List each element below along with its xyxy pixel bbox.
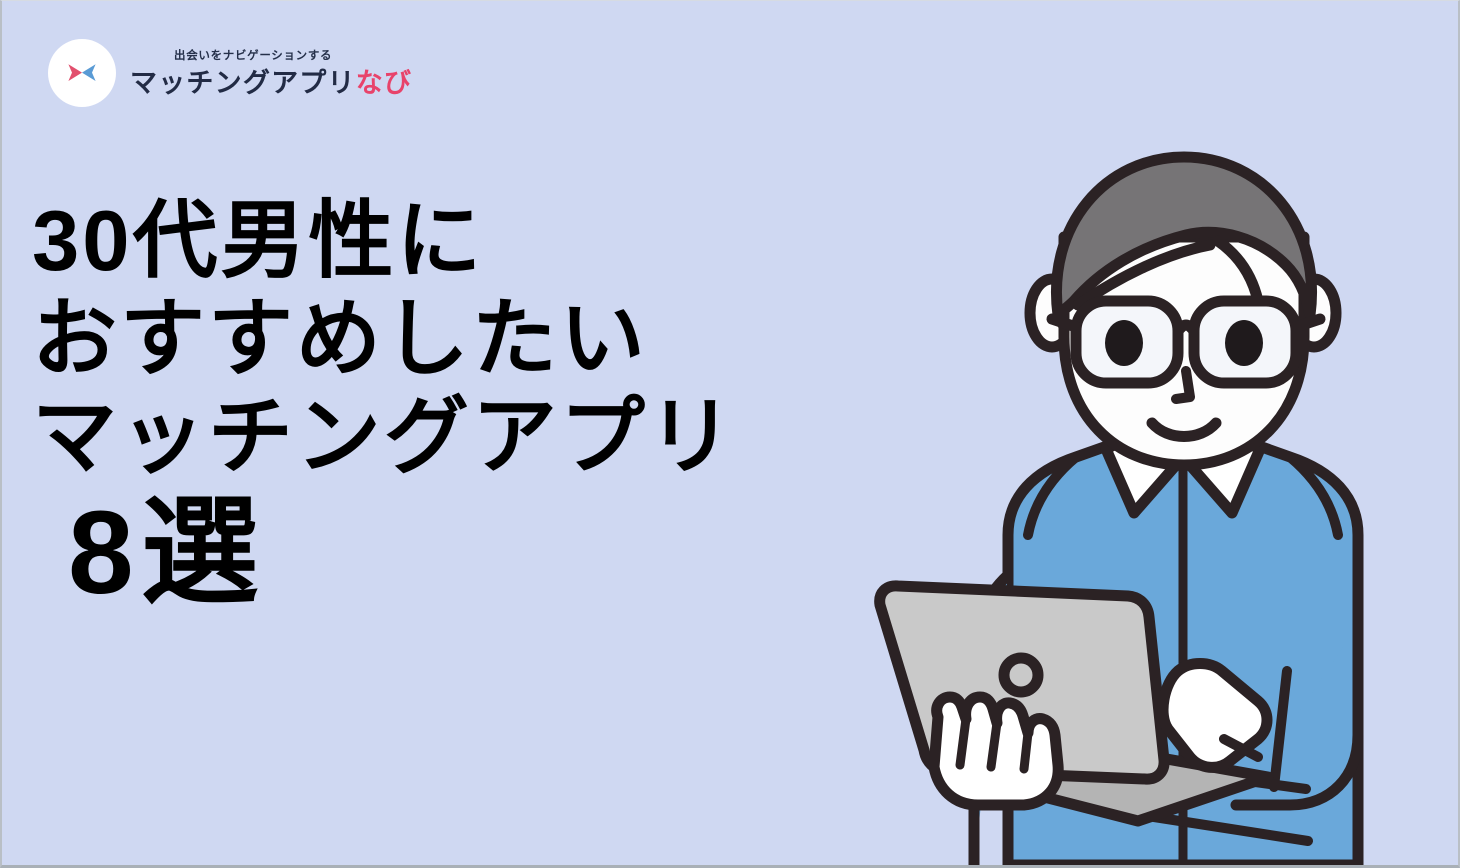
logo-wordmark: 出会いをナビゲーションする マッチングアプリなび bbox=[130, 49, 412, 97]
thumbnail-canvas: 出会いをナビゲーションする マッチングアプリなび 30代男性に おすすめしたい … bbox=[0, 0, 1460, 868]
headline-line-4-count: 8選 bbox=[68, 491, 932, 616]
logo-tagline: 出会いをナビゲーションする bbox=[174, 51, 412, 63]
headline-line-3: マッチングアプリ bbox=[32, 393, 932, 483]
site-logo[interactable]: 出会いをナビゲーションする マッチングアプリなび bbox=[48, 39, 412, 107]
logo-brand-accent: なび bbox=[356, 68, 412, 98]
headline-line-1: 30代男性に bbox=[32, 197, 932, 287]
headline-block: 30代男性に おすすめしたい マッチングアプリ 8選 bbox=[32, 197, 932, 624]
logo-brand-main: マッチングアプリ bbox=[130, 68, 356, 98]
matching-arrows-logo-icon bbox=[48, 39, 116, 107]
logo-brand-name: マッチングアプリなび bbox=[130, 70, 412, 97]
headline-line-2: おすすめしたい bbox=[32, 295, 932, 385]
